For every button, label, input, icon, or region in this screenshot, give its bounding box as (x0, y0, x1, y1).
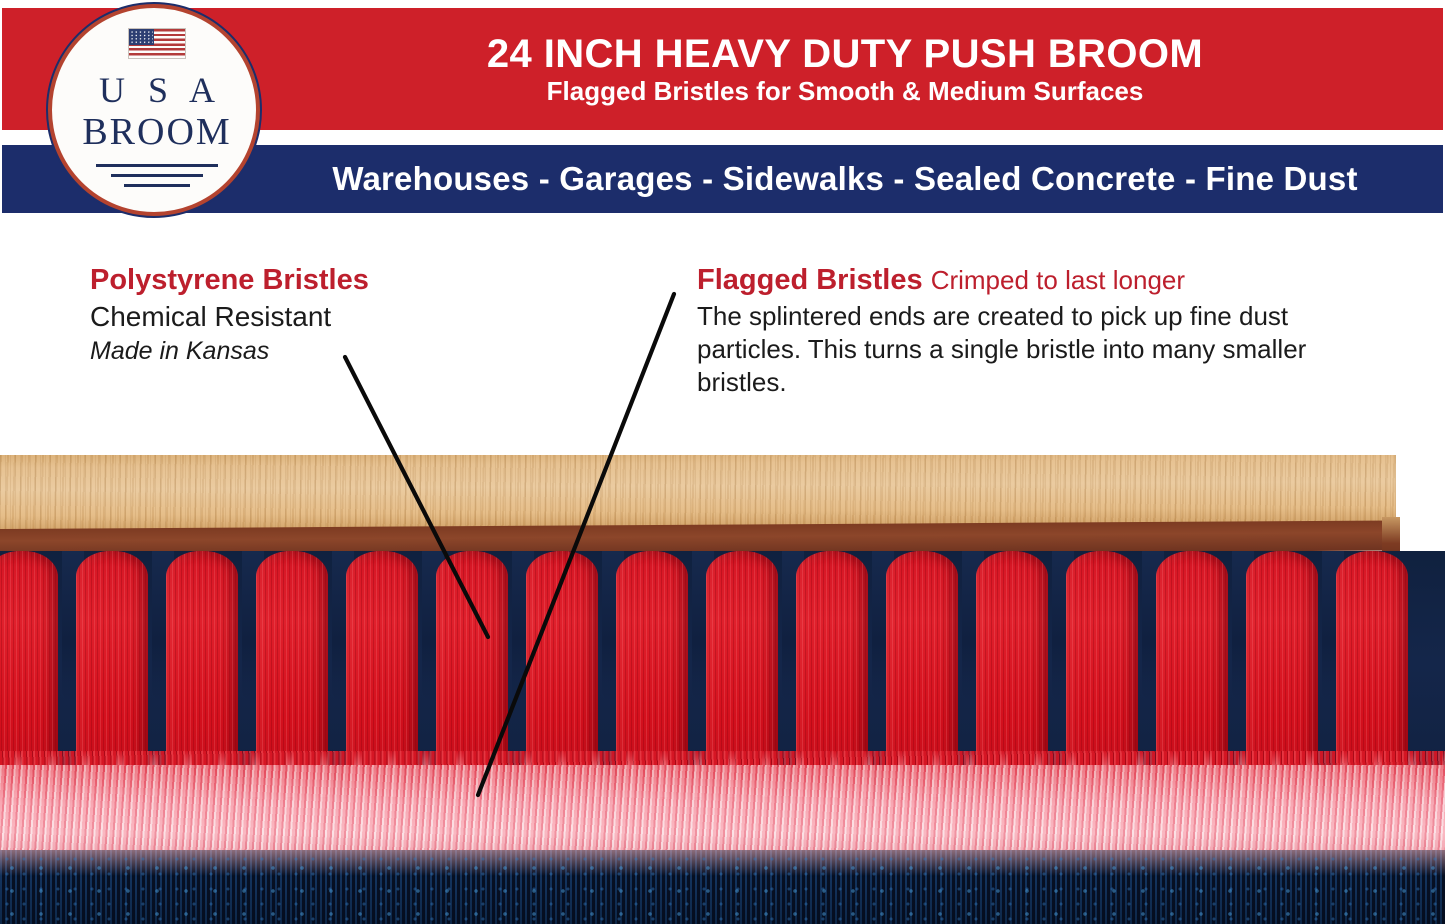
brand-name-line1: U S A (92, 72, 222, 108)
logo-rule-3 (124, 184, 190, 187)
flag-stars (130, 30, 153, 44)
brand-logo-badge: U S A BROOM (46, 2, 262, 218)
logo-rule-1 (96, 164, 218, 167)
annotation-polystyrene: Polystyrene Bristles Chemical Resistant … (90, 263, 470, 367)
annotation-flagged: Flagged Bristles Crimped to last longer … (697, 263, 1397, 399)
headline-group: 24 INCH HEAVY DUTY PUSH BROOM Flagged Br… (250, 8, 1440, 130)
product-infographic: 24 INCH HEAVY DUTY PUSH BROOM Flagged Br… (0, 0, 1445, 924)
page-subtitle: Flagged Bristles for Smooth & Medium Sur… (547, 77, 1144, 106)
annotation-flagged-title-tail: Crimped to last longer (931, 265, 1185, 295)
annotation-polystyrene-title: Polystyrene Bristles (90, 263, 470, 297)
brand-name-line2: BROOM (82, 113, 231, 151)
logo-rule-2 (111, 174, 203, 177)
page-title: 24 INCH HEAVY DUTY PUSH BROOM (487, 33, 1203, 75)
usa-flag-icon (128, 28, 186, 59)
annotation-flagged-title-row: Flagged Bristles Crimped to last longer (697, 263, 1397, 297)
navy-bristle-base (0, 850, 1445, 924)
brand-logo-rules (96, 164, 218, 187)
annotation-flagged-body: The splintered ends are created to pick … (697, 300, 1397, 399)
flag-canton (129, 29, 154, 45)
broom-photo (0, 455, 1445, 924)
uses-group: Warehouses - Garages - Sidewalks - Seale… (250, 145, 1440, 213)
annotation-polystyrene-line2: Chemical Resistant (90, 300, 470, 334)
brand-logo-content: U S A BROOM (49, 5, 265, 221)
navy-base-texture (0, 850, 1445, 924)
annotation-polystyrene-line3: Made in Kansas (90, 336, 470, 367)
annotation-flagged-title: Flagged Bristles (697, 264, 923, 296)
uses-list: Warehouses - Garages - Sidewalks - Seale… (332, 160, 1357, 198)
